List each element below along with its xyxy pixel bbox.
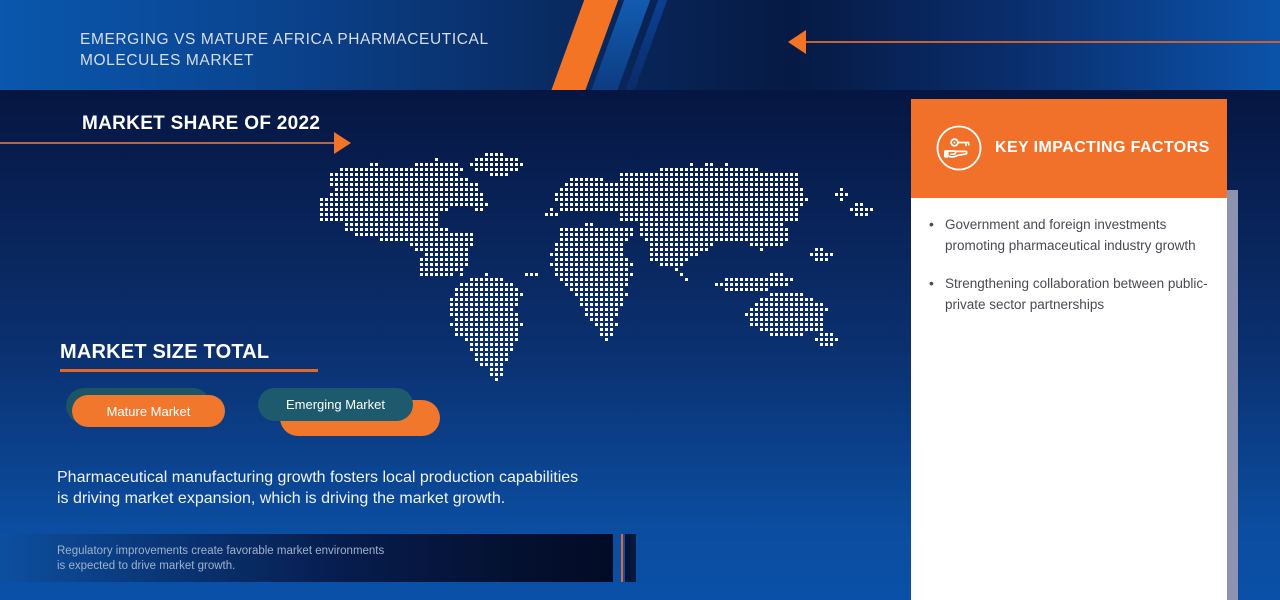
main-description-text: Pharmaceutical manufacturing growth fost…	[57, 468, 587, 509]
key-factor-text: Government and foreign investments promo…	[945, 214, 1209, 256]
page-title: EMERGING VS MATURE AFRICA PHARMACEUTICAL…	[80, 29, 550, 71]
key-panel-header: KEY IMPACTING FACTORS	[911, 99, 1227, 198]
header-arrow-line	[800, 41, 1280, 43]
key-factors-list: •Government and foreign investments prom…	[929, 214, 1209, 315]
footer-note-text: Regulatory improvements create favorable…	[57, 544, 537, 574]
market-share-label: MARKET SHARE OF 2022	[82, 113, 320, 135]
key-factor-text: Strengthening collaboration between publ…	[945, 273, 1209, 315]
market-size-underline	[60, 369, 318, 372]
key-panel-shadow	[1227, 190, 1238, 600]
key-panel-body: •Government and foreign investments prom…	[911, 198, 1227, 600]
key-factor-item: •Government and foreign investments prom…	[929, 214, 1209, 256]
hand-holding-key-icon	[935, 124, 983, 172]
footer-divider-accent	[621, 534, 623, 582]
infographic-canvas: EMERGING VS MATURE AFRICA PHARMACEUTICAL…	[0, 0, 1280, 600]
arrow-left-icon	[788, 30, 806, 54]
key-impacting-factors-panel: KEY IMPACTING FACTORS •Government and fo…	[911, 99, 1227, 600]
bullet-icon: •	[929, 273, 945, 294]
dotted-world-map	[270, 148, 890, 398]
legend-mature-label[interactable]: Mature Market	[72, 395, 225, 427]
footer-divider-sliver	[625, 534, 636, 582]
key-factor-item: •Strengthening collaboration between pub…	[929, 273, 1209, 315]
header-band: EMERGING VS MATURE AFRICA PHARMACEUTICAL…	[0, 0, 1280, 90]
legend-item-emerging-market[interactable]: Emerging Market	[258, 388, 443, 436]
market-size-label: MARKET SIZE TOTAL	[60, 341, 269, 364]
legend-emerging-label[interactable]: Emerging Market	[258, 388, 413, 421]
legend-item-mature-market[interactable]: Mature Market	[66, 388, 246, 436]
bullet-icon: •	[929, 214, 945, 235]
key-panel-title: KEY IMPACTING FACTORS	[995, 139, 1210, 157]
market-share-arrow-line	[0, 142, 336, 144]
